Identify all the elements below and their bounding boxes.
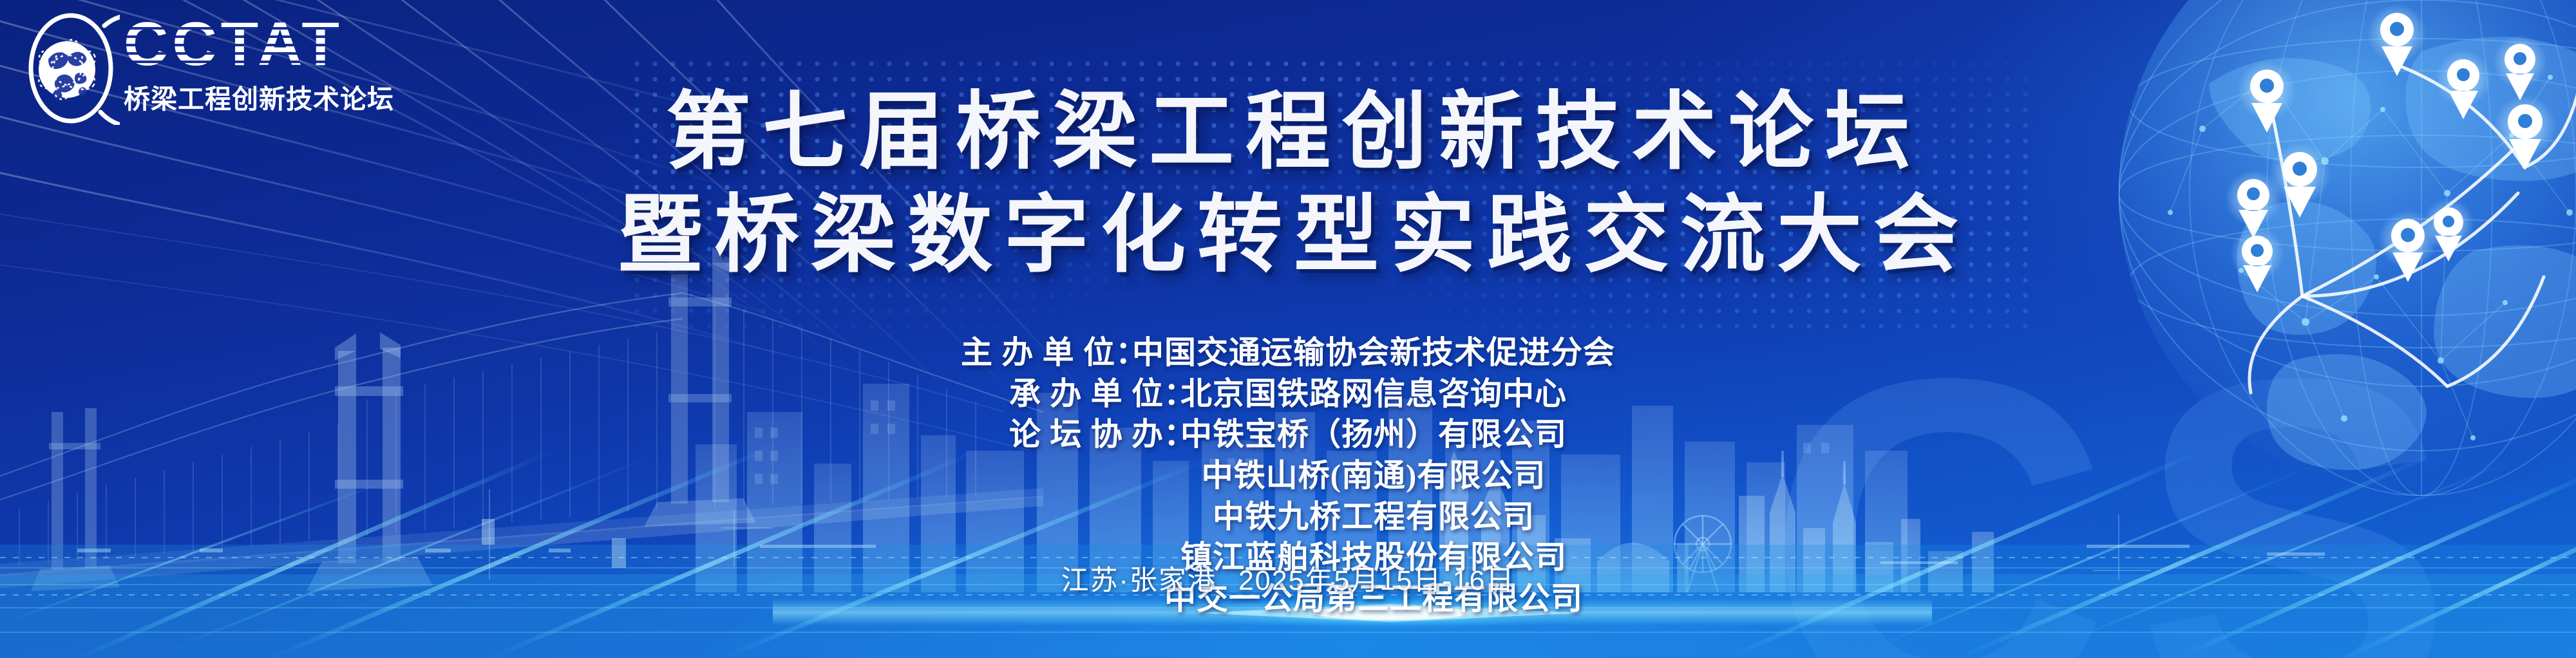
- organizer-row: 论坛协办 ： 中铁山桥(南通)有限公司: [1030, 455, 1546, 496]
- organizer-colon: ：: [1164, 414, 1180, 455]
- event-meta-inner: 江苏·张家港2025年5月15日-16日: [1061, 558, 1515, 598]
- logo-acronym: CCTAT: [124, 13, 407, 76]
- organizer-label: 承办单位: [1009, 373, 1164, 415]
- organizer-value: 中铁九桥工程有限公司: [1213, 496, 1535, 538]
- organizer-row: 承办单位 ： 北京国铁路网信息咨询中心: [1009, 373, 1567, 415]
- event-dates: 2025年5月15日-16日: [1238, 565, 1515, 596]
- organizer-row: 论坛协办 ： 中铁九桥工程有限公司: [1041, 496, 1535, 538]
- title-line-2: 暨桥梁数字化转型实践交流大会: [0, 188, 2576, 283]
- organizer-value: 中铁宝桥（扬州）有限公司: [1180, 414, 1567, 455]
- organizer-colon: ：: [1115, 332, 1132, 373]
- organizer-value: 中铁山桥(南通)有限公司: [1202, 455, 1546, 496]
- event-meta: 江苏·张家港2025年5月15日-16日: [0, 558, 2576, 598]
- title-line-1: 第七届桥梁工程创新技术论坛: [0, 85, 2576, 180]
- event-location: 江苏·张家港: [1061, 565, 1217, 596]
- organizer-row: 论坛协办 ： 中铁宝桥（扬州）有限公司: [1009, 414, 1567, 455]
- organizer-value: 中国交通运输协会新技术促进分会: [1132, 332, 1615, 373]
- organizer-value: 北京国铁路网信息咨询中心: [1180, 373, 1567, 415]
- conference-banner: CS: [0, 0, 2576, 658]
- organizer-colon: ：: [1164, 373, 1180, 415]
- organizer-label: 论坛协办: [1009, 414, 1164, 455]
- organizer-row: 主办单位 ： 中国交通运输协会新技术促进分会: [961, 332, 1615, 373]
- banner-title: 第七届桥梁工程创新技术论坛 暨桥梁数字化转型实践交流大会: [0, 85, 2576, 283]
- organizer-label: 主办单位: [961, 332, 1115, 373]
